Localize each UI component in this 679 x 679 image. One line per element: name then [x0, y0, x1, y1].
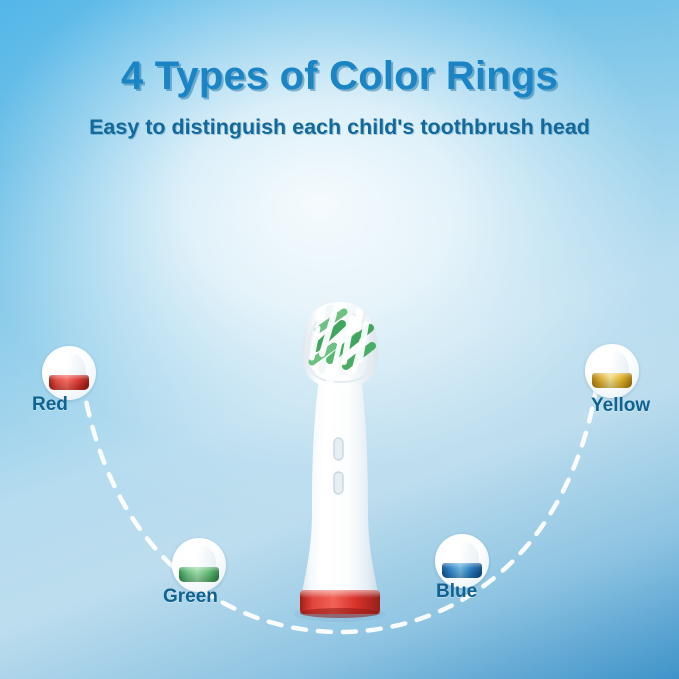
ring-gloss-green	[183, 544, 199, 555]
poster-canvas: 4 Types of Color Rings Easy to distingui…	[0, 0, 679, 679]
color-ring-marker-blue[interactable]	[435, 534, 489, 588]
ring-gloss-blue	[446, 540, 462, 551]
ring-band-yellow	[592, 373, 632, 388]
ring-ball-blue	[435, 534, 489, 588]
color-ring-marker-yellow[interactable]	[585, 344, 639, 398]
title-block: 4 Types of Color Rings Easy to distingui…	[0, 54, 679, 140]
ring-band-blue	[442, 563, 482, 578]
ring-ball-yellow	[585, 344, 639, 398]
color-ring-label-red: Red	[32, 394, 68, 416]
ring-ball-red	[42, 346, 96, 400]
base-color-ring	[300, 590, 380, 618]
ring-band-green	[179, 567, 219, 582]
color-ring-marker-red[interactable]	[42, 346, 96, 400]
color-ring-marker-green[interactable]	[172, 538, 226, 592]
ring-band-red	[49, 375, 89, 390]
color-ring-label-green: Green	[163, 586, 218, 608]
color-ring-label-blue: Blue	[436, 581, 477, 603]
page-title: 4 Types of Color Rings	[0, 54, 679, 99]
ring-gloss-red	[53, 352, 69, 363]
ring-gloss-yellow	[596, 350, 612, 361]
page-subtitle: Easy to distinguish each child's toothbr…	[0, 99, 679, 140]
ring-ball-green	[172, 538, 226, 592]
toothbrush-head-image	[256, 262, 424, 622]
toothbrush-svg	[256, 262, 424, 622]
color-ring-label-yellow: Yellow	[591, 395, 650, 417]
